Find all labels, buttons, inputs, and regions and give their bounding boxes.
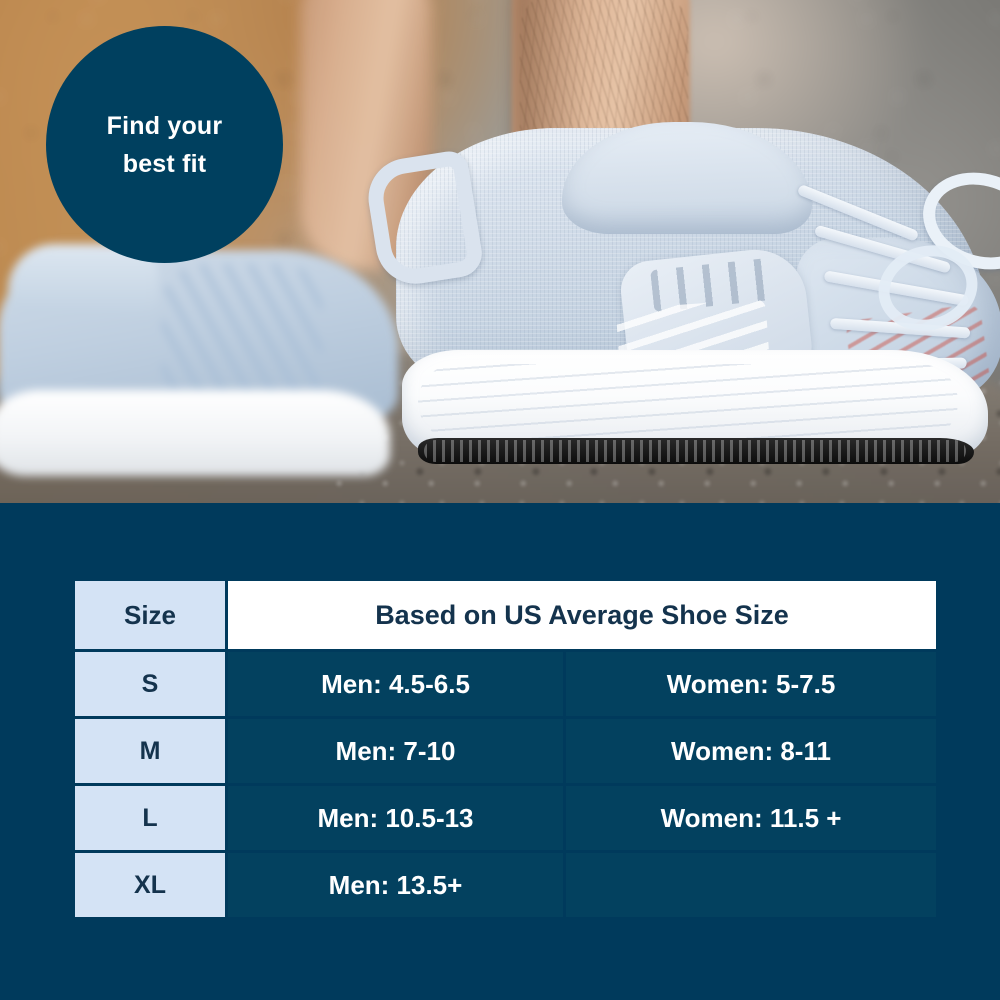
front-sneaker bbox=[366, 128, 1000, 496]
size-chart-table: Size Based on US Average Shoe Size S Men… bbox=[72, 578, 939, 920]
front-sneaker-midsole-texture bbox=[418, 364, 958, 440]
size-table-panel: Size Based on US Average Shoe Size S Men… bbox=[0, 503, 1000, 1000]
table-row: L Men: 10.5-13 Women: 11.5 + bbox=[75, 786, 936, 850]
find-your-best-fit-badge: Find your best fit bbox=[46, 26, 283, 263]
back-sneaker-sole bbox=[0, 390, 390, 476]
table-header-row: Size Based on US Average Shoe Size bbox=[75, 581, 936, 649]
row-women-value-empty bbox=[566, 853, 936, 917]
row-men-value: Men: 4.5-6.5 bbox=[228, 652, 563, 716]
row-women-value: Women: 5-7.5 bbox=[566, 652, 936, 716]
column-header-main: Based on US Average Shoe Size bbox=[228, 581, 936, 649]
front-sneaker-tread bbox=[424, 440, 966, 462]
front-sneaker-heel-pull-tab bbox=[363, 149, 485, 290]
hero-photo: Find your best fit bbox=[0, 0, 1000, 503]
badge-line-1: Find your bbox=[107, 107, 223, 145]
row-size-label: L bbox=[75, 786, 225, 850]
row-size-label: S bbox=[75, 652, 225, 716]
row-women-value: Women: 11.5 + bbox=[566, 786, 936, 850]
row-women-value: Women: 8-11 bbox=[566, 719, 936, 783]
row-size-label: XL bbox=[75, 853, 225, 917]
row-men-value: Men: 10.5-13 bbox=[228, 786, 563, 850]
size-chart-infographic: Find your best fit Size Based on US Aver… bbox=[0, 0, 1000, 1000]
column-header-size: Size bbox=[75, 581, 225, 649]
row-men-value: Men: 13.5+ bbox=[228, 853, 563, 917]
table-row: S Men: 4.5-6.5 Women: 5-7.5 bbox=[75, 652, 936, 716]
row-size-label: M bbox=[75, 719, 225, 783]
back-sneaker bbox=[0, 240, 420, 490]
row-men-value: Men: 7-10 bbox=[228, 719, 563, 783]
table-row: M Men: 7-10 Women: 8-11 bbox=[75, 719, 936, 783]
badge-line-2: best fit bbox=[123, 145, 207, 183]
table-row: XL Men: 13.5+ bbox=[75, 853, 936, 917]
